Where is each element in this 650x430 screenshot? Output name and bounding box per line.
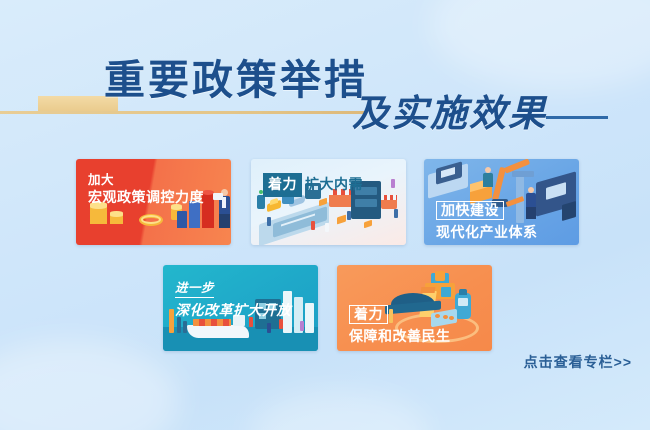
- card-industrial-system[interactable]: 加快建设 现代化产业体系: [424, 159, 579, 245]
- coin-icon: [110, 211, 123, 217]
- pedestrian: [279, 319, 283, 329]
- background-blob: [0, 340, 180, 430]
- dock-crane-post: [169, 309, 174, 333]
- ship-containers: [193, 319, 231, 326]
- card-domestic-demand-label-top: 着力: [263, 173, 302, 197]
- traffic-kiosk: [257, 195, 265, 209]
- store-window: [355, 199, 377, 207]
- card-industrial-system-label-top: 加快建设: [436, 201, 504, 220]
- card-peoples-livelihood[interactable]: 着力 保障和改善民生: [337, 265, 492, 351]
- card-industrial-system-label-top-wrap: 加快建设: [436, 201, 538, 220]
- pedestrian: [347, 211, 351, 220]
- pedestrian: [325, 223, 329, 232]
- card-peoples-livelihood-label-top-wrap: 着力: [349, 305, 451, 324]
- card-domestic-demand[interactable]: 着力扩大内需: [251, 159, 406, 245]
- card-peoples-livelihood-label: 着力 保障和改善民生: [349, 305, 451, 346]
- parcel-box: [337, 215, 346, 225]
- house-window: [441, 287, 451, 297]
- card-reform-opening[interactable]: 进一步 深化改革扩大开放: [163, 265, 318, 351]
- bar-chart-bar: [177, 211, 187, 228]
- card-domestic-demand-label: 着力扩大内需: [263, 173, 363, 197]
- card-macro-policy-label: 加大 宏观政策调控力度: [88, 172, 204, 207]
- gold-ring-highlight: [141, 215, 161, 224]
- view-column-link[interactable]: 点击查看专栏>>: [524, 352, 632, 372]
- policy-banner: 重要政策举措 及实施效果 加大 宏观政策调控力度: [0, 0, 650, 430]
- card-peoples-livelihood-label-top: 着力: [349, 305, 388, 324]
- machine-base: [562, 201, 576, 221]
- title-gold-rule: [0, 111, 365, 114]
- card-reform-opening-label: 进一步 深化改革扩大开放: [175, 279, 291, 320]
- skyscraper: [305, 303, 314, 333]
- card-industrial-system-label: 加快建设 现代化产业体系: [436, 201, 538, 242]
- water-bottle-label: [458, 298, 468, 306]
- card-macro-policy[interactable]: 加大 宏观政策调控力度: [76, 159, 231, 245]
- cargo-ship-hull: [187, 325, 249, 338]
- card-macro-policy-label-top: 加大: [88, 172, 204, 188]
- pedestrian: [391, 179, 395, 188]
- card-domestic-demand-label-main: 扩大内需: [305, 176, 363, 192]
- person-clipboard: [213, 193, 223, 200]
- background-blob: [250, 390, 430, 430]
- card-macro-policy-label-main: 宏观政策调控力度: [88, 188, 204, 207]
- card-industrial-system-label-main: 现代化产业体系: [436, 223, 538, 242]
- house-body: [435, 271, 445, 281]
- pedestrian: [394, 209, 398, 218]
- person-body: [483, 173, 493, 187]
- pedestrian: [300, 321, 304, 331]
- gantry-beam: [512, 171, 534, 177]
- pencil-tip: [421, 287, 436, 293]
- title-line-1: 重要政策举措: [104, 54, 368, 106]
- person-legs: [219, 214, 230, 228]
- robot-arm-segment: [492, 167, 506, 201]
- water-bottle: [455, 293, 471, 319]
- card-reform-opening-label-main: 深化改革扩大开放: [175, 301, 291, 320]
- pedestrian: [311, 221, 315, 230]
- pedestrian: [267, 323, 271, 333]
- water-bottle-cap: [459, 289, 467, 295]
- card-reform-opening-label-top: 进一步: [175, 280, 214, 298]
- banner-title: 重要政策举措 及实施效果: [0, 54, 650, 144]
- card-peoples-livelihood-label-main: 保障和改善民生: [349, 327, 451, 346]
- pedestrian: [267, 217, 271, 226]
- shop-awning-stripes: [381, 195, 397, 200]
- parcel-box: [364, 220, 372, 229]
- title-line-2: 及实施效果: [352, 92, 547, 138]
- title-blue-rule: [546, 116, 608, 119]
